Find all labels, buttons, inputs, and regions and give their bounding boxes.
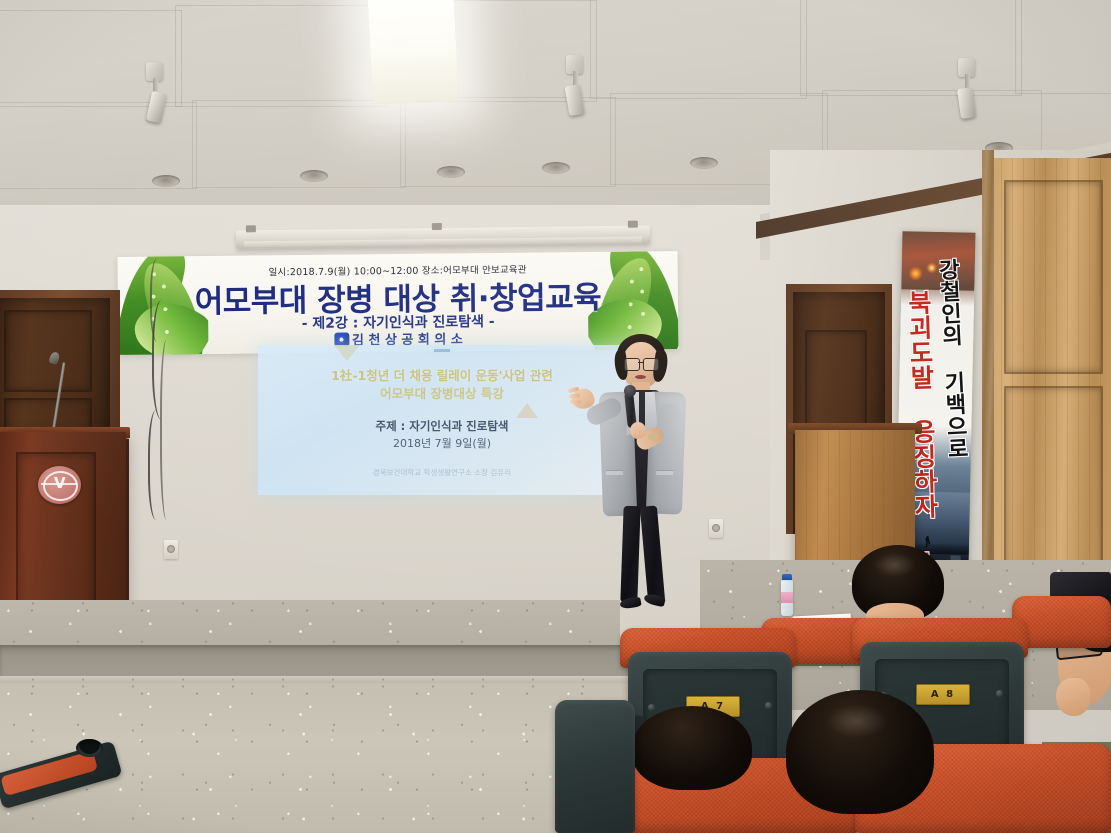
right-wood-panel-inset [1004, 180, 1103, 374]
door-panel [4, 310, 92, 392]
wall-power-outlet[interactable] [164, 540, 178, 559]
finger [568, 387, 580, 394]
auditorium-seat[interactable] [555, 700, 635, 833]
speaker-legs [622, 506, 664, 604]
blazer-pocket [656, 470, 673, 475]
ceiling-downlight [152, 175, 180, 187]
ceiling-tile [175, 5, 387, 107]
lecturer-speaker [560, 330, 740, 630]
eyeglass-lens-left [624, 358, 640, 371]
screen-mount-bracket [628, 221, 638, 228]
blazer-pocket [606, 470, 623, 475]
seat-back-shell [555, 700, 635, 833]
ceiling-tile [1015, 0, 1111, 94]
microphone-head-icon [624, 385, 636, 397]
speaker-leg-right [640, 505, 665, 602]
audience-member-head-foreground [786, 690, 934, 818]
audience-hand [1056, 678, 1090, 716]
water-bottle-label [781, 592, 793, 603]
slide-triangle-accent [516, 403, 538, 418]
hanging-cable [160, 340, 176, 520]
speaker-left-fingers [568, 388, 585, 394]
seat-screw [765, 702, 772, 709]
podium-emblem-icon: V [38, 466, 81, 504]
armrest-pad [0, 751, 98, 797]
ceiling-downlight [300, 170, 328, 182]
right-wood-panel-inset [1004, 386, 1103, 570]
ceiling-tile [800, 0, 1022, 96]
slide-accent-bar [434, 349, 450, 352]
speaker-leg-left [620, 506, 640, 603]
seat-armrest[interactable] [0, 741, 123, 810]
seat-screw [996, 690, 1003, 697]
screen-mount-bracket [246, 225, 256, 232]
hair-highlight [826, 704, 888, 738]
hair-highlight [874, 553, 916, 577]
ceiling-tile [192, 100, 406, 188]
ceiling-downlight [542, 162, 570, 174]
ceiling-downlight [437, 166, 465, 178]
auditorium-photo-scene: 일시:2018.7.9(월) 10:00~12:00 장소:어모부대 안보교육관… [0, 0, 1111, 833]
eyeglass-lens-right [643, 358, 659, 371]
emblem-letter: V [54, 476, 66, 491]
speaker-right-hand [630, 422, 646, 439]
slide-triangle-accent [334, 345, 360, 361]
ceiling-tile [590, 0, 807, 99]
speaker-eyeglasses-icon [624, 358, 658, 369]
head-hair [632, 706, 752, 790]
ceiling-fluorescent-panel [367, 0, 459, 104]
ceiling-downlight [690, 157, 718, 169]
speaker-mouth [635, 375, 646, 379]
seat-cupholder[interactable] [76, 739, 103, 757]
finger [570, 400, 581, 405]
audience-member-head [632, 706, 752, 792]
auditorium-seat[interactable] [0, 735, 140, 833]
right-wood-panel-divider [982, 150, 994, 590]
screen-mount-bracket [432, 223, 442, 230]
